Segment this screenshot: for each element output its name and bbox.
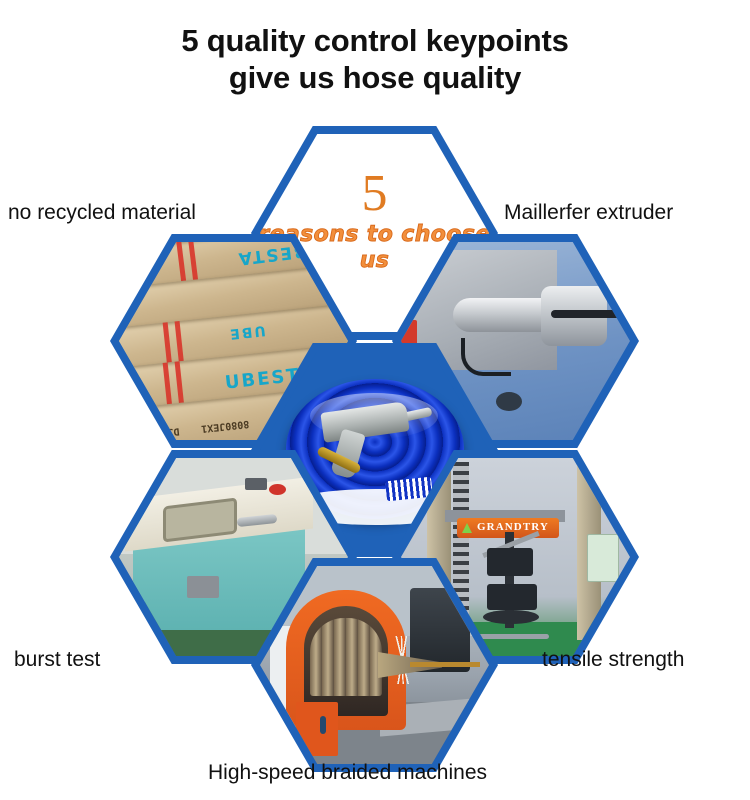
sack-brand-mid: UBE xyxy=(227,322,266,342)
label-maillerfer-extruder: Maillerfer extruder xyxy=(504,200,673,225)
hexagon-grid: 5 reasons to choose us UBESTA UBE xyxy=(0,0,750,800)
label-tensile-strength: tensile strength xyxy=(542,647,684,672)
label-high-speed-braided-machines: High-speed braided machines xyxy=(208,760,487,785)
photo-braiding-machine xyxy=(260,566,489,764)
sack-code-right: 8080JEX1 xyxy=(201,418,250,434)
label-no-recycled-material: no recycled material xyxy=(8,200,196,225)
sack-code-left: D3967 xyxy=(149,425,180,439)
reasons-count: 5 xyxy=(260,166,489,222)
label-burst-test: burst test xyxy=(14,647,100,672)
